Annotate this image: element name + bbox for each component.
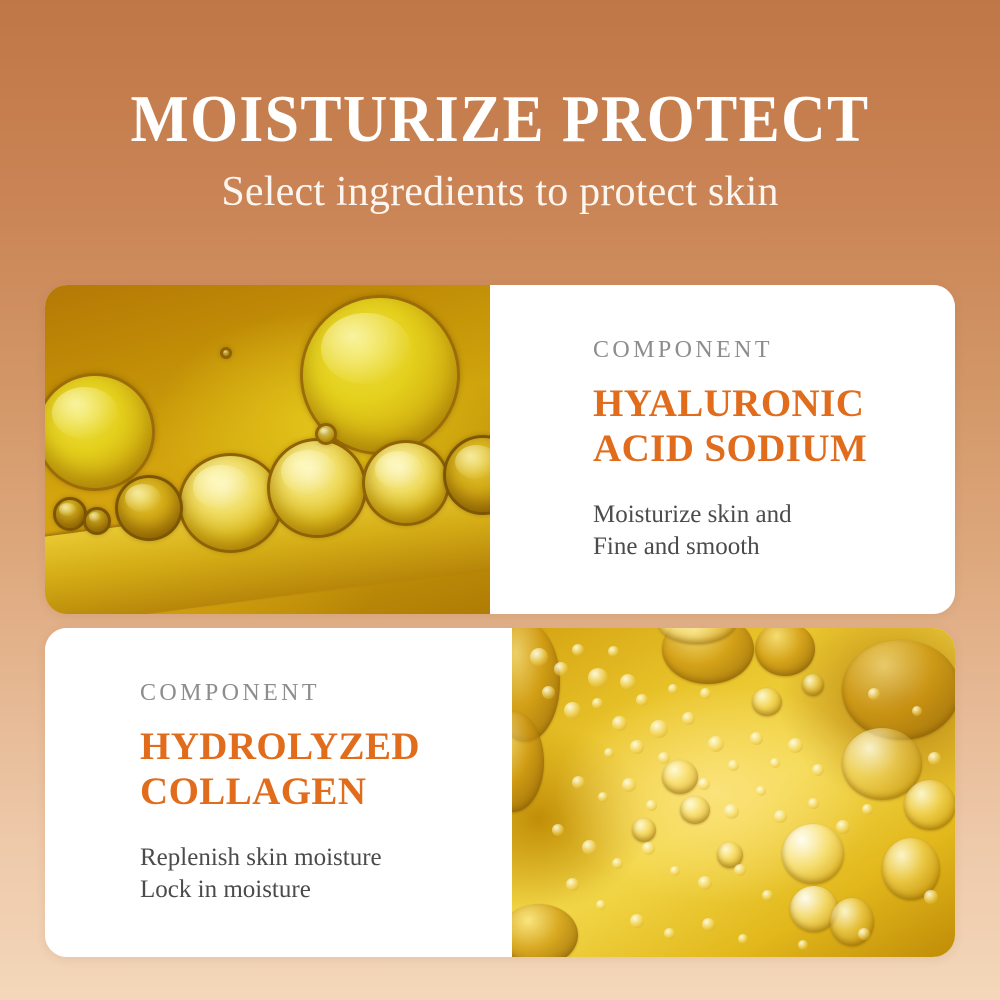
oil-foam-bubble — [664, 928, 675, 939]
oil-foam-bubble — [724, 804, 739, 819]
oil-foam-bubble — [646, 800, 657, 811]
oil-foam-bubble — [682, 712, 695, 725]
oil-foam-bubble — [798, 940, 808, 950]
oil-foam-bubble — [708, 736, 724, 752]
oil-foam-bubble — [862, 804, 873, 815]
component-description-line-1: Moisturize skin and — [593, 501, 792, 528]
oil-background — [512, 628, 955, 957]
oil-droplet — [662, 760, 698, 794]
oil-foam-bubble — [596, 900, 606, 910]
poster-canvas: MOISTURIZE PROTECT Select ingredients to… — [0, 0, 1000, 1000]
oil-foam-bubble — [642, 842, 655, 855]
oil-foam-bubble — [598, 792, 608, 802]
component-description: Moisturize skin and Fine and smooth — [593, 471, 925, 563]
oil-foam-bubble — [630, 740, 644, 754]
oil-droplet — [904, 780, 955, 830]
oil-foam-bubble — [670, 866, 680, 876]
oil-foam-bubble — [738, 934, 748, 944]
oil-foam-bubble — [572, 644, 584, 656]
oil-foam-bubble — [928, 752, 941, 765]
oil-droplet — [782, 824, 844, 884]
oil-foam-bubble — [650, 720, 668, 738]
oil-foam-bubble — [728, 760, 739, 771]
oil-foam-bubble — [564, 702, 581, 719]
component-title: HYDROLYZED COLLAGEN — [140, 707, 482, 814]
oil-bubble — [220, 347, 232, 359]
oil-bubble — [53, 497, 87, 531]
component-eyebrow: COMPONENT — [593, 337, 925, 364]
oil-foam-bubble — [702, 918, 715, 931]
oil-foam-bubble — [698, 778, 710, 790]
oil-foam-bubble — [912, 706, 922, 716]
oil-droplet — [680, 796, 710, 824]
oil-droplet — [842, 640, 955, 740]
oil-foam-bubble — [762, 890, 773, 901]
oil-bubble — [362, 440, 450, 526]
ingredient-card[interactable]: COMPONENT HYDROLYZED COLLAGEN Replenish … — [45, 628, 955, 957]
oil-foam-bubble — [668, 684, 678, 694]
oil-foam-bubble — [734, 864, 746, 876]
poster-header: MOISTURIZE PROTECT Select ingredients to… — [0, 0, 1000, 215]
oil-foam-bubble — [868, 688, 880, 700]
component-description: Replenish skin moisture Lock in moisture — [140, 814, 482, 906]
component-title-line-1: HYALURONIC — [593, 382, 864, 425]
oil-foam-bubble — [612, 858, 623, 869]
oil-foam-bubble — [620, 674, 636, 690]
oil-foam-bubble — [788, 738, 803, 753]
oil-foam-bubble — [622, 778, 636, 792]
component-title-line-2: COLLAGEN — [140, 770, 366, 813]
oil-foam-bubble — [774, 810, 787, 823]
oil-foam-bubble — [770, 758, 780, 768]
oil-foam-bubble — [698, 876, 712, 890]
component-eyebrow: COMPONENT — [140, 680, 482, 707]
oil-foam-bubble — [592, 698, 603, 709]
component-description-line-1: Replenish skin moisture — [140, 844, 382, 871]
component-description-line-2: Lock in moisture — [140, 876, 311, 903]
oil-foam-bubble — [808, 798, 819, 809]
oil-foam-bubble — [756, 786, 766, 796]
oil-foam-bubble — [612, 716, 627, 731]
component-title-line-1: HYDROLYZED — [140, 725, 420, 768]
oil-foam-bubble — [750, 732, 763, 745]
oil-droplet — [632, 818, 656, 842]
card-text-hyaluronic: COMPONENT HYALURONIC ACID SODIUM Moistur… — [490, 285, 955, 614]
oil-foam-bubble — [924, 890, 938, 904]
oil-droplet — [755, 628, 815, 676]
oil-foam-bubble — [608, 646, 619, 657]
ingredient-card[interactable]: COMPONENT HYALURONIC ACID SODIUM Moistur… — [45, 285, 955, 614]
page-subtitle: Select ingredients to protect skin — [0, 153, 1000, 215]
oil-foam-bubble — [566, 878, 579, 891]
oil-foam-bubble — [604, 748, 614, 758]
component-title-line-2: ACID SODIUM — [593, 427, 867, 470]
oil-bubble — [178, 453, 283, 553]
oil-foam-bubble — [858, 928, 870, 940]
page-title: MOISTURIZE PROTECT — [40, 86, 960, 153]
component-title: HYALURONIC ACID SODIUM — [593, 364, 925, 471]
oil-bubble — [83, 507, 111, 535]
oil-droplet — [752, 688, 782, 716]
oil-droplet — [802, 674, 824, 696]
oil-bubble — [315, 423, 337, 445]
oil-foam-bubble — [836, 820, 850, 834]
oil-foam-bubble — [572, 776, 585, 789]
oil-foam-bubble — [554, 662, 568, 676]
oil-foam-bubble — [658, 752, 670, 764]
oil-foam-bubble — [636, 694, 648, 706]
card-image-hyaluronic — [45, 285, 490, 614]
oil-foam-bubble — [582, 840, 597, 855]
oil-foam-bubble — [552, 824, 564, 836]
oil-droplet — [512, 904, 578, 957]
component-description-line-2: Fine and smooth — [593, 533, 760, 560]
oil-bubble — [115, 475, 183, 541]
oil-foam-bubble — [700, 688, 711, 699]
card-text-collagen: COMPONENT HYDROLYZED COLLAGEN Replenish … — [45, 628, 512, 957]
oil-bubble — [267, 438, 367, 538]
oil-foam-bubble — [542, 686, 555, 699]
oil-foam-bubble — [530, 648, 548, 666]
card-image-collagen — [512, 628, 955, 957]
oil-foam-bubble — [630, 914, 644, 928]
oil-foam-bubble — [588, 668, 608, 688]
oil-foam-bubble — [812, 764, 824, 776]
